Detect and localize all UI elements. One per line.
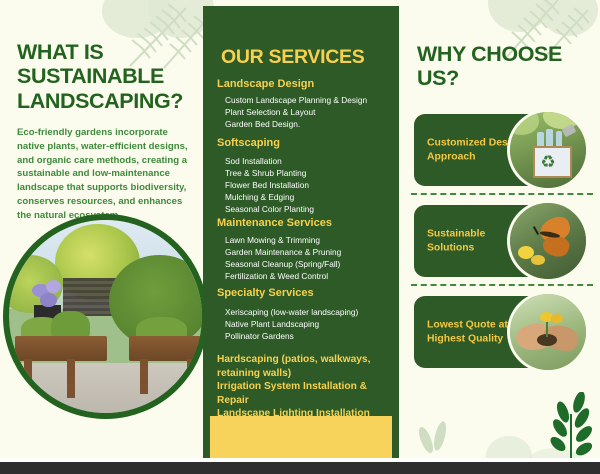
- service-group-heading: Maintenance Services: [217, 217, 399, 229]
- service-item: Fertilization & Weed Control: [225, 270, 399, 282]
- service-item: Pollinator Gardens: [225, 330, 399, 342]
- service-item: Garden Maintenance & Pruning: [225, 246, 399, 258]
- recycle-symbol-icon: ♻: [540, 154, 555, 171]
- viewer-bottom-bar: [0, 462, 600, 474]
- service-group-heading: Specialty Services: [217, 287, 399, 299]
- brochure-page: WHAT IS SUSTAINABLE LANDSCAPING? Eco-fri…: [0, 0, 600, 474]
- service-item-list: Lawn Mowing & Trimming Garden Maintenanc…: [203, 234, 399, 282]
- left-column: WHAT IS SUSTAINABLE LANDSCAPING? Eco-fri…: [0, 0, 203, 474]
- service-item: Xeriscaping (low-water landscaping): [225, 306, 399, 318]
- service-item: Flower Bed Installation: [225, 179, 399, 191]
- service-item: Seasonal Cleanup (Spring/Fall): [225, 258, 399, 270]
- butterfly-on-flower-icon: [507, 200, 589, 282]
- hands-holding-seedling-icon: [507, 291, 589, 373]
- card-divider: [411, 193, 593, 195]
- service-item: Mulching & Edging: [225, 191, 399, 203]
- service-item: Sod Installation: [225, 155, 399, 167]
- service-item-list: Sod Installation Tree & Shrub Planting F…: [203, 155, 399, 215]
- service-group-heading: Landscape Design: [217, 78, 399, 90]
- service-item: Lawn Mowing & Trimming: [225, 234, 399, 246]
- services-panel: OUR SERVICES Landscape Design Custom Lan…: [203, 6, 399, 474]
- services-title: OUR SERVICES: [221, 46, 364, 69]
- benefit-card-sustainable-solutions[interactable]: Sustainable Solutions: [414, 205, 589, 277]
- page-title-right: WHY CHOOSE US?: [417, 42, 592, 91]
- benefit-card-lowest-quote[interactable]: Lowest Quote at Highest Quality: [414, 296, 589, 368]
- service-item: Seasonal Color Planting: [225, 203, 399, 215]
- garden-photo: [3, 214, 208, 419]
- service-group: Maintenance Services Lawn Mowing & Trimm…: [203, 217, 399, 282]
- page-title-left: WHAT IS SUSTAINABLE LANDSCAPING?: [17, 40, 197, 113]
- service-group: Landscape Design Custom Landscape Planni…: [203, 78, 399, 130]
- highlight-hardscaping: Hardscaping (patios, walkways, retaining…: [217, 353, 389, 380]
- benefit-card-customized-design[interactable]: Customized Design Approach ♻: [414, 114, 589, 186]
- service-group-heading: Softscaping: [217, 137, 399, 149]
- highlight-irrigation: Irrigation System Installation & Repair: [217, 380, 389, 407]
- service-item: Tree & Shrub Planting: [225, 167, 399, 179]
- service-item: Custom Landscape Planning & Design: [225, 94, 399, 106]
- recycling-bin-icon: ♻: [507, 109, 589, 191]
- left-intro-paragraph: Eco-friendly gardens incorporate native …: [17, 126, 193, 223]
- service-group: Specialty Services Xeriscaping (low-wate…: [203, 287, 399, 342]
- service-item: Garden Bed Design.: [225, 118, 399, 130]
- service-item-list: Custom Landscape Planning & Design Plant…: [203, 94, 399, 130]
- service-group: Softscaping Sod Installation Tree & Shru…: [203, 137, 399, 215]
- why-choose-us-column: WHY CHOOSE US? Customized Design Approac…: [399, 0, 600, 474]
- card-divider: [411, 284, 593, 286]
- service-item-list: Xeriscaping (low-water landscaping) Nati…: [203, 306, 399, 342]
- gold-footer-block: [210, 416, 392, 462]
- service-item: Plant Selection & Layout: [225, 106, 399, 118]
- service-item: Native Plant Landscaping: [225, 318, 399, 330]
